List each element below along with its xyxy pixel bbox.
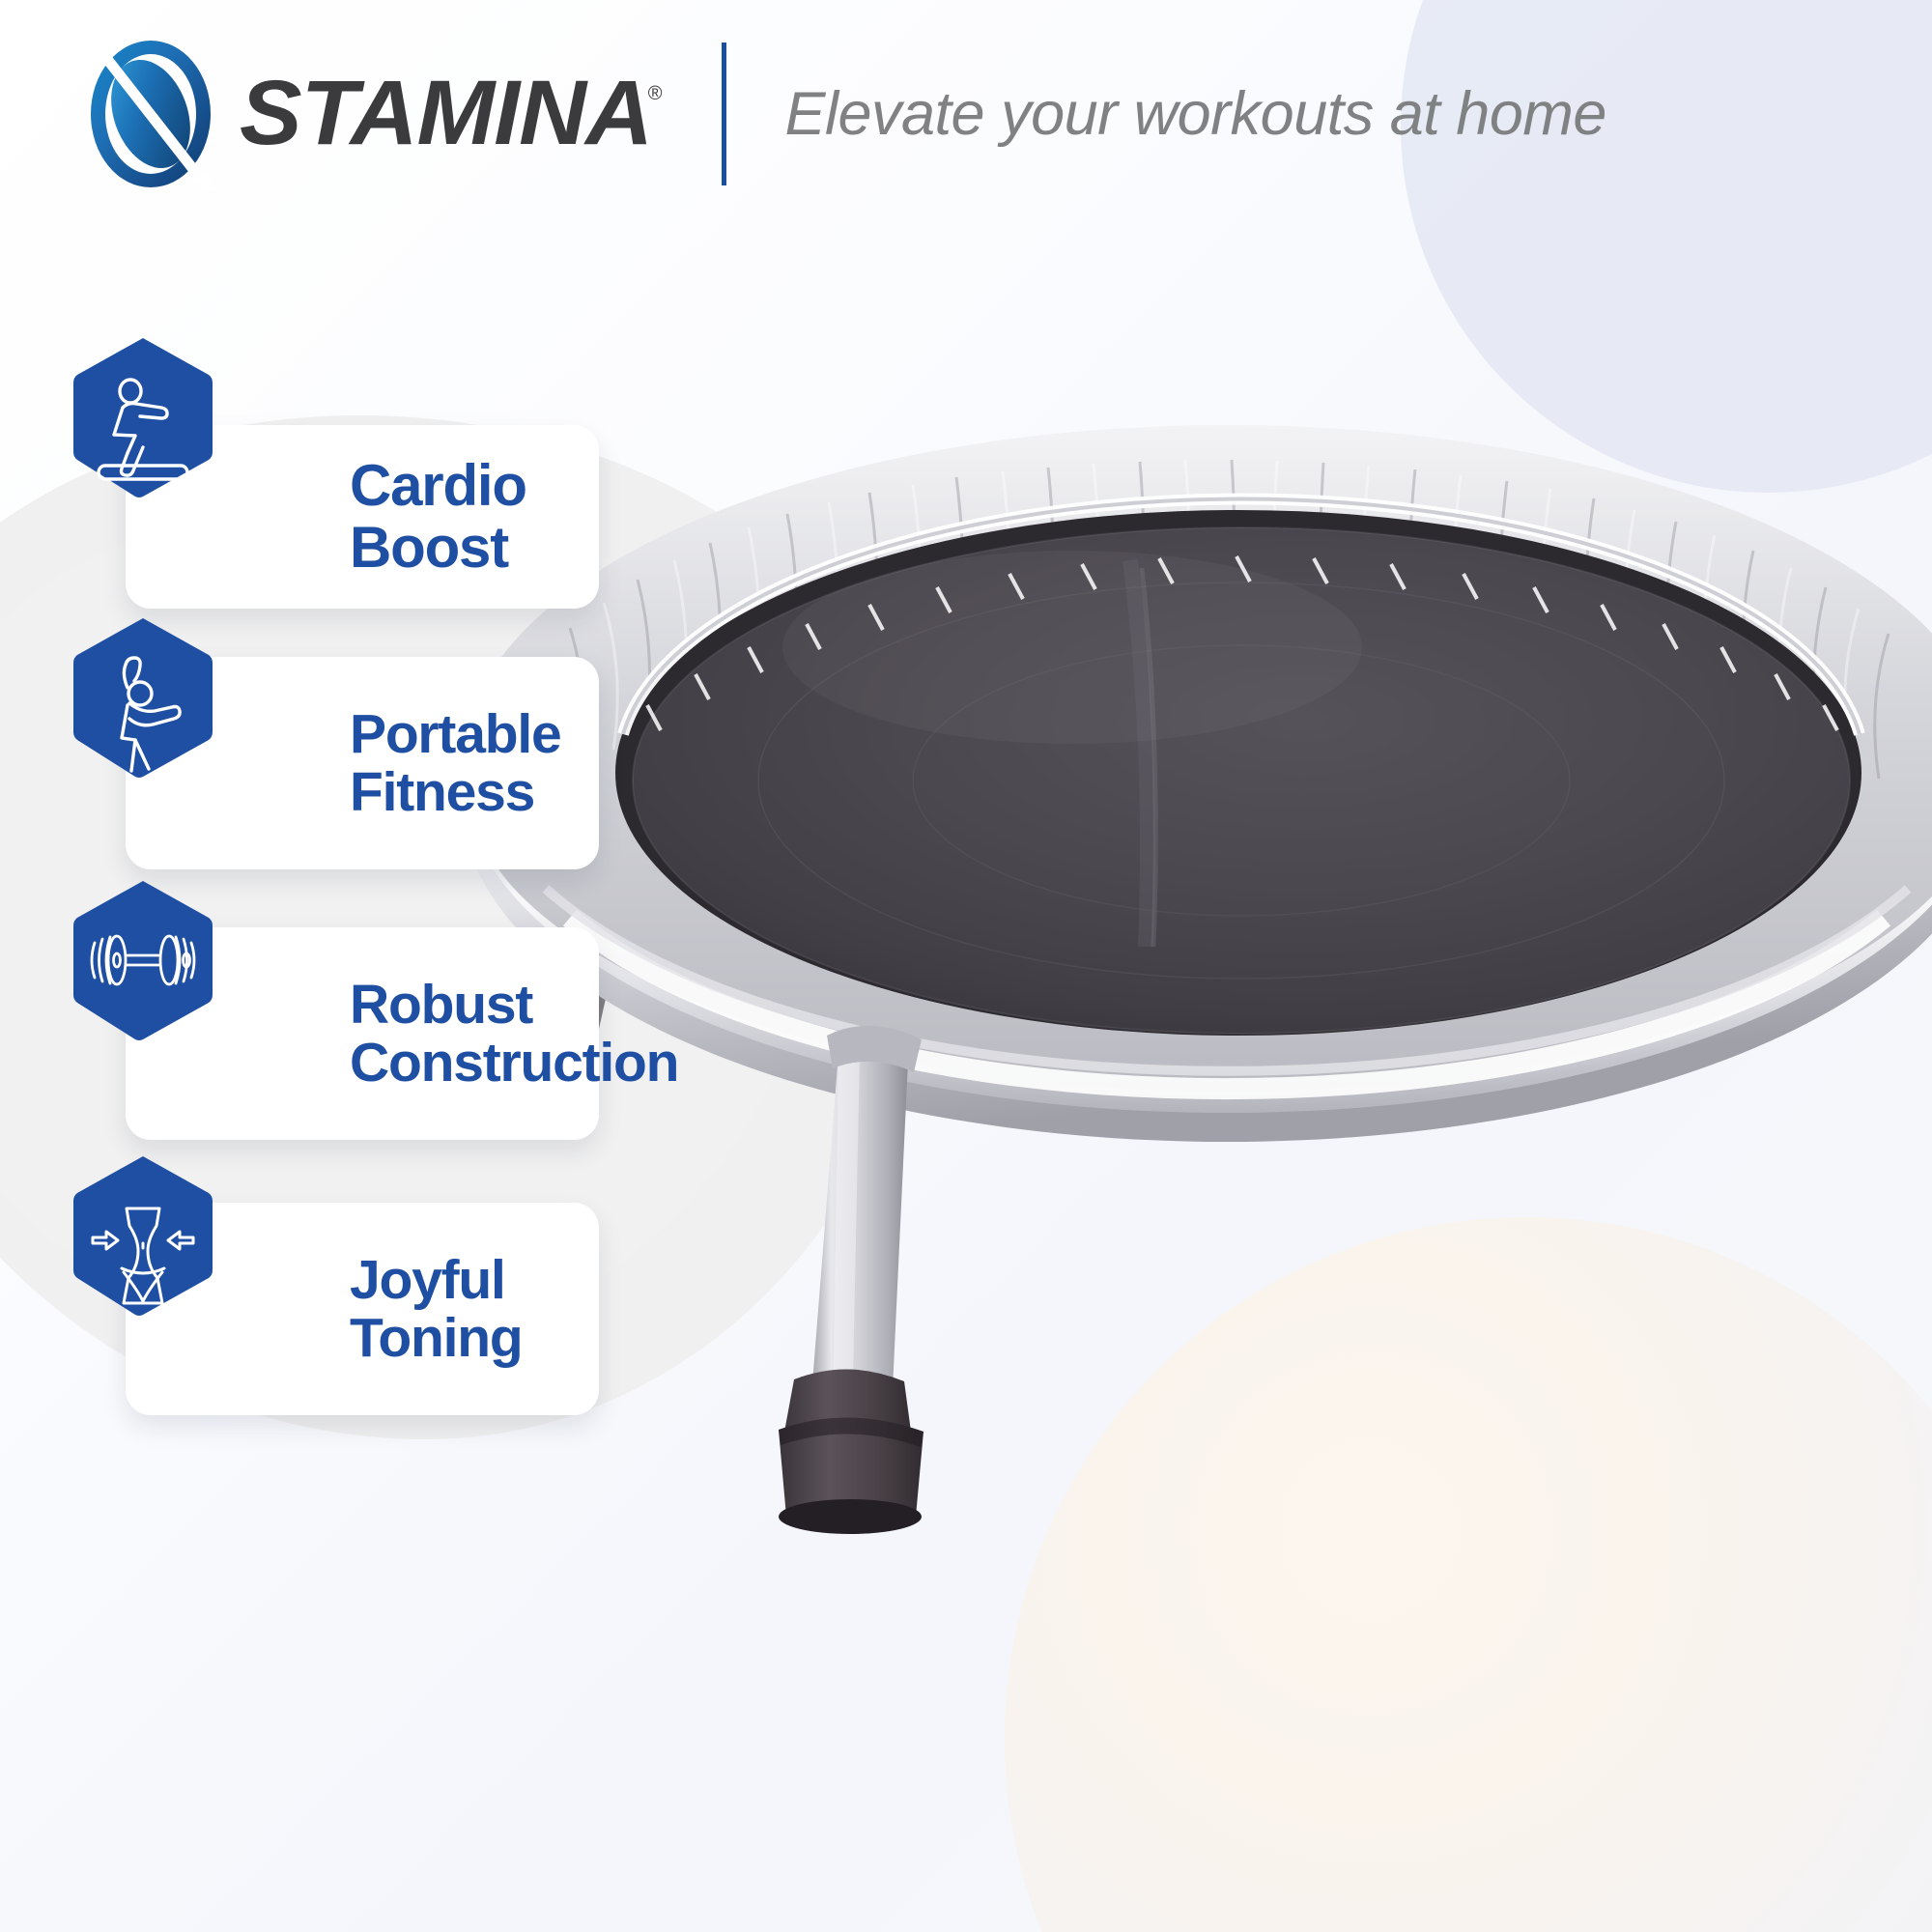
dumbbell-icon [71, 879, 214, 1041]
header-divider [722, 43, 726, 185]
waist-slimming-arrows-icon [71, 1154, 214, 1317]
feature-badge-cardio-boost [71, 336, 214, 498]
feature-label: Joyful Toning [350, 1251, 523, 1368]
feature-badge-portable-fitness [71, 616, 214, 779]
marketing-banner: Cardio Boost Portable Fitness [0, 0, 1932, 1932]
brand-name: STAMINA [240, 70, 652, 156]
feature-card-list: Cardio Boost Portable Fitness [0, 0, 1932, 1932]
person-stretching-icon [71, 616, 214, 779]
feature-badge-robust-construction [71, 879, 214, 1041]
feature-label: Cardio Boost [350, 455, 599, 578]
brand-logo-lockup: STAMINA ® [83, 37, 662, 191]
feature-label: Portable Fitness [350, 705, 560, 822]
feature-badge-joyful-toning [71, 1154, 214, 1317]
brand-header: STAMINA ® Elevate your workouts at home [0, 0, 1932, 227]
feature-label: Robust Construction [350, 976, 678, 1093]
person-jumping-on-rebounder-icon [71, 336, 214, 498]
brand-wordmark: STAMINA ® [240, 70, 662, 156]
brand-tagline: Elevate your workouts at home [784, 79, 1605, 149]
stamina-oval-slash-logo-icon [83, 37, 218, 191]
